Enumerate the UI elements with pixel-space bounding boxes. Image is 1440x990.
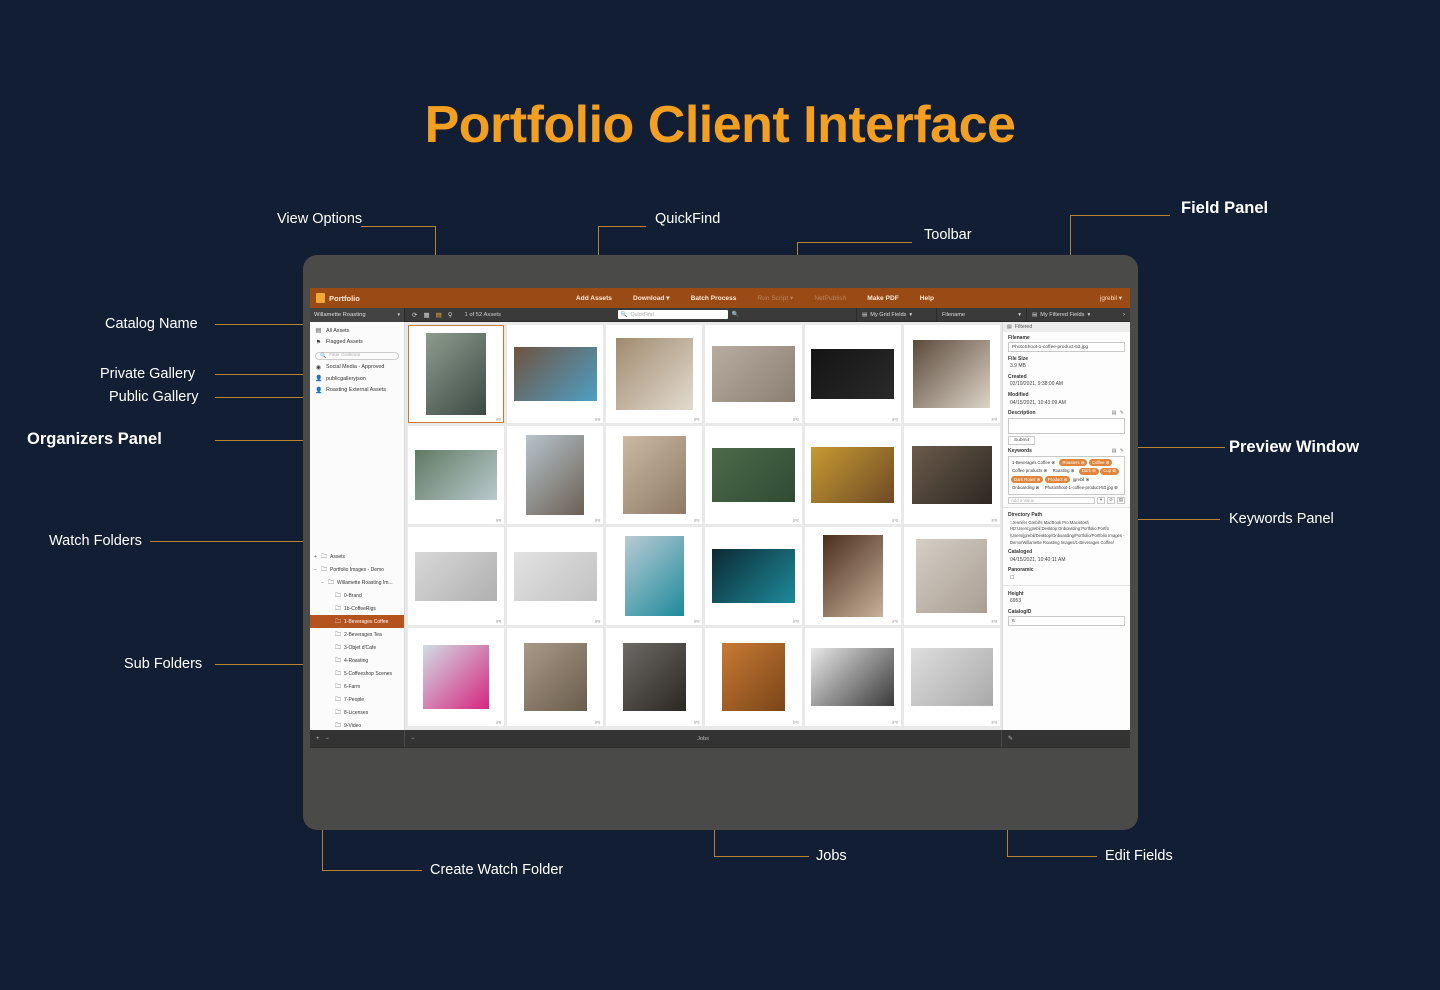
asset-thumbnail [623, 436, 686, 514]
asset-cell[interactable]: jpg [904, 325, 1000, 423]
tree-node[interactable]: 🗀3-Objet d'Cafe [310, 641, 404, 654]
asset-cell[interactable]: jpg [904, 527, 1000, 625]
keyword-pill[interactable]: Onboarding ⊗ [1011, 485, 1042, 492]
keyword-pill[interactable]: Cup ⊗ [1100, 468, 1119, 475]
jobs-label[interactable]: Jobs [405, 736, 1001, 742]
asset-cell[interactable]: jpg [507, 426, 603, 524]
app-toolbar: Portfolio Add AssetsDownload ▾Batch Proc… [310, 288, 1130, 308]
panel-collapse-icon[interactable]: › [1118, 312, 1130, 318]
asset-thumbnail [823, 535, 883, 617]
tree-node[interactable]: 🗀5-Coffeeshop Scenes [310, 667, 404, 680]
asset-filetype-label: jpg [694, 719, 699, 724]
asset-filetype-label: jpg [694, 517, 699, 522]
asset-cell[interactable]: jpg [606, 628, 702, 726]
user-menu[interactable]: jgrebil ▾ [1100, 294, 1130, 302]
archive-icon: ▤ [315, 327, 322, 334]
keyword-pill[interactable]: Coffee products ⊗ [1011, 468, 1050, 475]
tree-node-label: Willamette Roasting Im... [337, 580, 393, 586]
asset-filetype-label: jpg [793, 416, 798, 421]
filtered-fields-label: My Filtered Fields [1040, 312, 1084, 318]
asset-filetype-label: jpg [793, 517, 798, 522]
person-icon: 👤 [315, 387, 322, 394]
asset-cell[interactable]: jpg [805, 325, 901, 423]
toolbar-menu: Add AssetsDownload ▾Batch ProcessRun Scr… [410, 294, 1100, 302]
field-cataloged: Cataloged 04/15/2021, 10:40:11 AM [1003, 547, 1130, 565]
callout-private-gallery: Private Gallery [100, 366, 195, 382]
gallery-item-label: Social Media - Approved [326, 364, 384, 370]
expander-icon[interactable]: − [313, 567, 318, 573]
grid-view-icon[interactable]: ▦ [423, 311, 429, 319]
gallery-item-label: publicgalleryjson [326, 376, 366, 382]
person-icon: 👤 [315, 375, 322, 382]
created-value: 02/10/2021, 9:38:00 AM [1008, 380, 1125, 389]
description-label: Description [1008, 410, 1036, 416]
search-icon: 🔍 [621, 312, 628, 318]
page-title: Portfolio Client Interface [0, 95, 1440, 155]
keyword-pill[interactable]: Product ⊗ [1045, 476, 1071, 483]
folder-icon: 🗀 [335, 617, 341, 627]
gallery-item[interactable]: ◉Social Media - Approved [310, 362, 404, 373]
asset-thumbnail [526, 435, 584, 515]
asset-cell[interactable]: jpg [705, 426, 801, 524]
description-textarea[interactable] [1008, 418, 1125, 434]
watch-folder-controls: + − [310, 730, 405, 747]
organizers-panel: ▤All Assets⚑Flagged Assets 🔍 Filter Gall… [310, 322, 405, 734]
asset-cell[interactable]: jpg [904, 628, 1000, 726]
field-height: Height 6953 [1003, 588, 1130, 606]
toolbar-item-make-pdf[interactable]: Make PDF [867, 295, 899, 302]
asset-filetype-label: jpg [992, 618, 997, 623]
asset-thumbnail [415, 552, 498, 601]
toolbar-item-add-assets[interactable]: Add Assets [576, 295, 612, 302]
galleries-list: ◉Social Media - Approved👤publicgalleryjs… [310, 362, 404, 396]
organizer-row-label: Flagged Assets [326, 339, 363, 345]
folder-icon: 🗀 [321, 552, 327, 562]
map-view-icon[interactable]: ⚲ [448, 311, 453, 319]
height-value: 6953 [1008, 597, 1125, 606]
tree-node-label: 1-Beverages Coffee [344, 619, 388, 625]
asset-count: 1 of 52 Assets [465, 312, 501, 318]
asset-filetype-label: jpg [595, 416, 600, 421]
jobs-segment: − Jobs [405, 730, 1002, 747]
eye-icon: ◉ [315, 364, 322, 371]
asset-thumbnail [514, 347, 597, 402]
asset-filetype-label: jpg [892, 517, 897, 522]
field-keywords: Keywords ▤ ✎ 1-Beverages Coffee ⊗Roaster… [1003, 446, 1130, 505]
asset-thumbnail [811, 648, 894, 707]
quickfind-area: 🔍 QuickFind 🔍 [501, 310, 856, 319]
callout-organizers-panel: Organizers Panel [27, 430, 162, 449]
portfolio-logo-icon [316, 293, 325, 303]
view-options: ⟳ ▦ ▤ ⚲ 1 of 52 Assets [405, 311, 501, 319]
toolbar-item-download[interactable]: Download ▾ [633, 294, 670, 302]
folder-icon: 🗀 [335, 591, 341, 601]
asset-thumbnail [426, 333, 486, 415]
asset-cell[interactable]: jpg [805, 426, 901, 524]
gallery-filter-placeholder: Filter Galleries [329, 353, 360, 358]
asset-cell[interactable]: jpg [606, 426, 702, 524]
folder-icon: 🗀 [335, 669, 341, 679]
search-icon: 🔍 [320, 353, 326, 359]
tree-node-selected[interactable]: 🗀1-Beverages Coffee [310, 615, 404, 628]
tree-node[interactable]: +🗀Assets [310, 550, 404, 563]
keywords-label: Keywords [1008, 448, 1032, 454]
tree-node-label: 8-Licenses [344, 710, 368, 716]
keyword-pill[interactable]: Coffee ⊗ [1089, 459, 1112, 466]
asset-grid-container[interactable]: jpgjpgjpgjpgjpgjpgjpgjpgjpgjpgjpgjpgjpgj… [405, 322, 1002, 734]
asset-thumbnail [415, 450, 498, 501]
asset-thumbnail [625, 536, 685, 616]
folder-icon: 🗀 [335, 708, 341, 718]
keyword-pill[interactable]: Roasting ⊗ [1052, 468, 1078, 475]
sort-label: Filename [942, 312, 965, 318]
asset-filetype-label: jpg [496, 517, 501, 522]
filter-icon: ▤ [1007, 324, 1012, 330]
field-directory: Directory Path ::Jennifer Grebil's MacBo… [1003, 510, 1130, 547]
field-filesize: File Size 3.9 MB [1003, 353, 1130, 371]
brand-label: Portfolio [329, 294, 360, 303]
chevron-down-icon: ▾ [909, 312, 912, 318]
keywords-list: 1-Beverages Coffee ⊗Roasters ⊗Coffee ⊗Co… [1008, 456, 1125, 495]
keyword-pill[interactable]: PhotoShoot-1-coffee-product-53.jpg ⊗ [1044, 485, 1121, 492]
callout-field-panel: Field Panel [1181, 199, 1268, 218]
asset-thumbnail [722, 643, 785, 712]
grid-fields-label: My Grid Fields [870, 312, 906, 318]
asset-filetype-label: jpg [595, 719, 600, 724]
submit-button[interactable]: Submit [1008, 436, 1035, 445]
keyword-list-icon[interactable]: ▤ [1117, 497, 1125, 504]
keyword-pill[interactable]: 1-Beverages Coffee ⊗ [1011, 459, 1058, 466]
callout-keywords-panel: Keywords Panel [1229, 511, 1334, 527]
keyword-pill[interactable]: Dark ⊗ [1079, 468, 1099, 475]
field-panoramic: Panoramic ☐ [1003, 565, 1130, 583]
app-body: ▤All Assets⚑Flagged Assets 🔍 Filter Gall… [310, 322, 1130, 734]
organizer-row[interactable]: ▤All Assets [310, 325, 404, 336]
keyword-pill[interactable]: Roasters ⊗ [1059, 459, 1087, 466]
sort-select[interactable]: Filename ▾ [936, 308, 1026, 322]
gallery-item[interactable]: 👤Roasting External Assets [310, 385, 404, 396]
organizer-row[interactable]: ⚑Flagged Assets [310, 336, 404, 347]
quickfind-placeholder: QuickFind [631, 312, 654, 318]
toolbar-item-batch-process[interactable]: Batch Process [691, 295, 737, 302]
field-created: Created 02/10/2021, 9:38:00 AM [1003, 371, 1130, 389]
grid-fields-icon: ▤ [862, 312, 867, 318]
asset-thumbnail [712, 448, 795, 503]
gallery-filter-input[interactable]: 🔍 Filter Galleries [315, 352, 399, 360]
leader-quickfind-h [598, 226, 646, 227]
field-catalogid: CatalogID 6 [1003, 606, 1130, 627]
asset-cell[interactable]: jpg [507, 325, 603, 423]
filtered-fields-icon: ▤ [1032, 312, 1037, 318]
leader-toolbar-h [797, 242, 912, 243]
status-bar: + − − Jobs ✎ [310, 730, 1130, 747]
catalog-name-select[interactable]: Willamette Roasting ▾ [310, 308, 405, 322]
tree-node[interactable]: 🗀2-Beverages Tea [310, 628, 404, 641]
asset-thumbnail [911, 648, 994, 707]
tree-node[interactable]: 🗀6-Farm [310, 680, 404, 693]
quickfind-submit-icon[interactable]: 🔍 [732, 311, 739, 318]
keywords-edit-icon[interactable]: ▤ ✎ [1112, 448, 1125, 454]
asset-cell[interactable]: jpg [705, 628, 801, 726]
tree-node-label: 4-Roasting [344, 658, 368, 664]
organizers-top: ▤All Assets⚑Flagged Assets [310, 322, 404, 350]
secondary-toolbar: Willamette Roasting ▾ ⟳ ▦ ▤ ⚲ 1 of 52 As… [310, 308, 1130, 322]
folder-icon: 🗀 [335, 604, 341, 614]
asset-cell[interactable]: jpg [904, 426, 1000, 524]
catalogid-input[interactable]: 6 [1008, 616, 1125, 626]
asset-filetype-label: jpg [892, 618, 897, 623]
toolbar-item-help[interactable]: Help [920, 295, 934, 302]
asset-cell[interactable]: jpg [705, 325, 801, 423]
asset-thumbnail [423, 645, 488, 710]
folder-icon: 🗀 [335, 630, 341, 640]
tree-node[interactable]: 🗀7-People [310, 693, 404, 706]
asset-cell[interactable]: jpg [408, 426, 504, 524]
toolbar-item-run-script[interactable]: Run Script ▾ [757, 294, 793, 302]
asset-filetype-label: jpg [595, 618, 600, 623]
asset-cell-selected[interactable]: jpg [408, 325, 504, 423]
callout-catalog-name: Catalog Name [105, 316, 198, 332]
divider [1003, 585, 1130, 586]
quickfind-input[interactable]: 🔍 QuickFind [618, 310, 728, 319]
edit-fields-segment: ✎ [1002, 730, 1130, 747]
description-edit-icon[interactable]: ▤ ✎ [1112, 410, 1125, 416]
chevron-down-icon: ▾ [397, 312, 400, 318]
field-filename: Filename PhotoShoot-1-coffee-product-53.… [1003, 332, 1130, 353]
callout-edit-fields: Edit Fields [1105, 848, 1173, 864]
asset-filetype-label: jpg [992, 517, 997, 522]
asset-cell[interactable]: jpg [507, 527, 603, 625]
asset-cell[interactable]: jpg [408, 527, 504, 625]
asset-filetype-label: jpg [595, 517, 600, 522]
asset-filetype-label: jpg [496, 416, 501, 421]
toolbar-item-netpublish[interactable]: NetPublish [814, 295, 846, 302]
asset-thumbnail [916, 539, 987, 613]
asset-filetype-label: jpg [992, 719, 997, 724]
tree-node-label: 1b-CoffeeRigs [344, 606, 376, 612]
tree-node[interactable]: 🗀4-Roasting [310, 654, 404, 667]
asset-cell[interactable]: jpg [507, 628, 603, 726]
asset-filetype-label: jpg [694, 416, 699, 421]
expander-icon[interactable]: − [320, 580, 325, 586]
cataloged-value: 04/15/2021, 10:40:11 AM [1008, 555, 1125, 564]
flag-icon: ⚑ [315, 339, 322, 346]
callout-watch-folders: Watch Folders [49, 533, 142, 549]
asset-thumbnail [913, 340, 990, 409]
organizers-spacer [310, 396, 404, 550]
field-panel: ▤ Filtered Filename PhotoShoot-1-coffee-… [1002, 322, 1130, 734]
panoramic-checkbox[interactable]: ☐ [1008, 573, 1125, 582]
asset-thumbnail [623, 643, 686, 712]
grid-fields-select[interactable]: ▤ My Grid Fields ▾ [856, 308, 936, 322]
asset-filetype-label: jpg [892, 416, 897, 421]
field-selectors: ▤ My Grid Fields ▾ Filename ▾ ▤ My Filte… [856, 308, 1130, 322]
tree-node-label: 0-Brand [344, 593, 362, 599]
leader-create-watch-folder-h [322, 870, 422, 871]
asset-thumbnail [524, 643, 587, 712]
folder-icon: 🗀 [335, 682, 341, 692]
keyword-dropdown-icon[interactable]: ▾ [1097, 497, 1105, 504]
asset-thumbnail [712, 346, 795, 403]
folder-tree: +🗀Assets−🗀Portfolio Images - Demo−🗀Willa… [310, 550, 404, 734]
chevron-down-icon: ▾ [1018, 312, 1021, 318]
callout-sub-folders: Sub Folders [124, 656, 202, 672]
folder-icon: 🗀 [321, 565, 327, 575]
divider [1003, 507, 1130, 508]
organizer-row-label: All Assets [326, 328, 349, 334]
directory-value-top: ::Jennifer Grebil's MacBook Pro:Macintos… [1008, 518, 1125, 532]
filesize-value: 3.9 MB [1008, 362, 1125, 371]
modified-value: 04/15/2021, 10:43:09 AM [1008, 398, 1125, 407]
tree-node-label: 7-People [344, 697, 364, 703]
folder-icon: 🗀 [335, 695, 341, 705]
callout-toolbar: Toolbar [924, 227, 972, 243]
filtered-fields-select[interactable]: ▤ My Filtered Fields ▾ [1026, 308, 1118, 322]
edit-fields-icon[interactable]: ✎ [1008, 735, 1013, 742]
asset-filetype-label: jpg [496, 618, 501, 623]
callout-preview-window: Preview Window [1229, 438, 1359, 457]
leader-watch-folders [150, 541, 328, 542]
keyword-add-row: Add a Value ▾ ⊘ ▤ [1008, 497, 1125, 504]
create-watch-folder-button[interactable]: + [316, 736, 320, 742]
folder-icon: 🗀 [335, 656, 341, 666]
asset-thumbnail [912, 446, 993, 505]
tree-node-label: 9-Video [344, 723, 361, 729]
field-panel-header: ▤ Filtered [1003, 322, 1130, 332]
filename-input[interactable]: PhotoShoot-1-coffee-product-53.jpg [1008, 342, 1125, 352]
asset-thumbnail [514, 552, 597, 601]
callout-view-options: View Options [277, 211, 362, 227]
chevron-down-icon: ▾ [1087, 312, 1090, 318]
keyword-pill[interactable]: jgrebil ⊗ [1072, 476, 1092, 483]
callout-public-gallery: Public Gallery [109, 389, 198, 405]
portfolio-app-window: Portfolio Add AssetsDownload ▾Batch Proc… [310, 288, 1130, 748]
expander-icon[interactable]: + [313, 554, 318, 560]
remove-watch-folder-button[interactable]: − [326, 736, 330, 742]
asset-filetype-label: jpg [992, 416, 997, 421]
asset-filetype-label: jpg [694, 618, 699, 623]
keyword-clear-icon[interactable]: ⊘ [1107, 497, 1115, 504]
asset-filetype-label: jpg [892, 719, 897, 724]
folder-icon: 🗀 [335, 643, 341, 653]
asset-cell[interactable]: jpg [805, 628, 901, 726]
gallery-item-label: Roasting External Assets [326, 387, 386, 393]
callout-create-watch-folder: Create Watch Folder [430, 862, 563, 878]
keyword-add-input[interactable]: Add a Value [1008, 497, 1095, 504]
catalogid-label: CatalogID [1008, 609, 1125, 615]
tree-node-label: 6-Farm [344, 684, 360, 690]
asset-grid: jpgjpgjpgjpgjpgjpgjpgjpgjpgjpgjpgjpgjpgj… [408, 325, 1000, 726]
tree-node-label: 2-Beverages Tea [344, 632, 382, 638]
directory-value: /Users/jgrebil/Desktop/Onboarding/Portfo… [1008, 532, 1125, 546]
catalog-name-label: Willamette Roasting [314, 312, 366, 318]
asset-thumbnail [616, 338, 693, 411]
field-description: Description ▤ ✎ Submit [1003, 408, 1130, 446]
folder-icon: 🗀 [328, 578, 334, 588]
refresh-icon[interactable]: ⟳ [412, 311, 417, 319]
asset-cell[interactable]: jpg [705, 527, 801, 625]
tree-node[interactable]: 🗀1b-CoffeeRigs [310, 602, 404, 615]
gallery-item[interactable]: 👤publicgalleryjson [310, 373, 404, 384]
asset-cell[interactable]: jpg [408, 628, 504, 726]
list-view-icon[interactable]: ▤ [436, 311, 442, 319]
leader-view-options-h [361, 226, 436, 227]
asset-filetype-label: jpg [793, 719, 798, 724]
field-panel-header-label: Filtered [1015, 324, 1032, 330]
asset-cell[interactable]: jpg [606, 527, 702, 625]
callout-quickfind: QuickFind [655, 211, 720, 227]
tree-node-label: Assets [330, 554, 345, 560]
asset-cell[interactable]: jpg [805, 527, 901, 625]
callout-jobs: Jobs [816, 848, 847, 864]
asset-thumbnail [811, 447, 894, 504]
tree-node-label: 3-Objet d'Cafe [344, 645, 376, 651]
keyword-pill[interactable]: Dark Roast ⊗ [1011, 476, 1043, 483]
tree-node-label: Portfolio Images - Demo [330, 567, 384, 573]
tree-node[interactable]: −🗀Willamette Roasting Im... [310, 576, 404, 589]
tree-node[interactable]: −🗀Portfolio Images - Demo [310, 563, 404, 576]
asset-cell[interactable]: jpg [606, 325, 702, 423]
asset-filetype-label: jpg [793, 618, 798, 623]
asset-thumbnail [712, 549, 795, 604]
filename-label: Filename [1008, 335, 1125, 341]
leader-edit-fields-h [1007, 856, 1097, 857]
field-modified: Modified 04/15/2021, 10:43:09 AM [1003, 390, 1130, 408]
leader-jobs-h [714, 856, 809, 857]
folder-icon: 🗀 [335, 721, 341, 731]
asset-filetype-label: jpg [496, 719, 501, 724]
tree-node[interactable]: 🗀0-Brand [310, 589, 404, 602]
leader-field-panel-h [1070, 215, 1170, 216]
tree-node[interactable]: 🗀8-Licenses [310, 706, 404, 719]
asset-thumbnail [811, 349, 894, 400]
tree-node-label: 5-Coffeeshop Scenes [344, 671, 392, 677]
